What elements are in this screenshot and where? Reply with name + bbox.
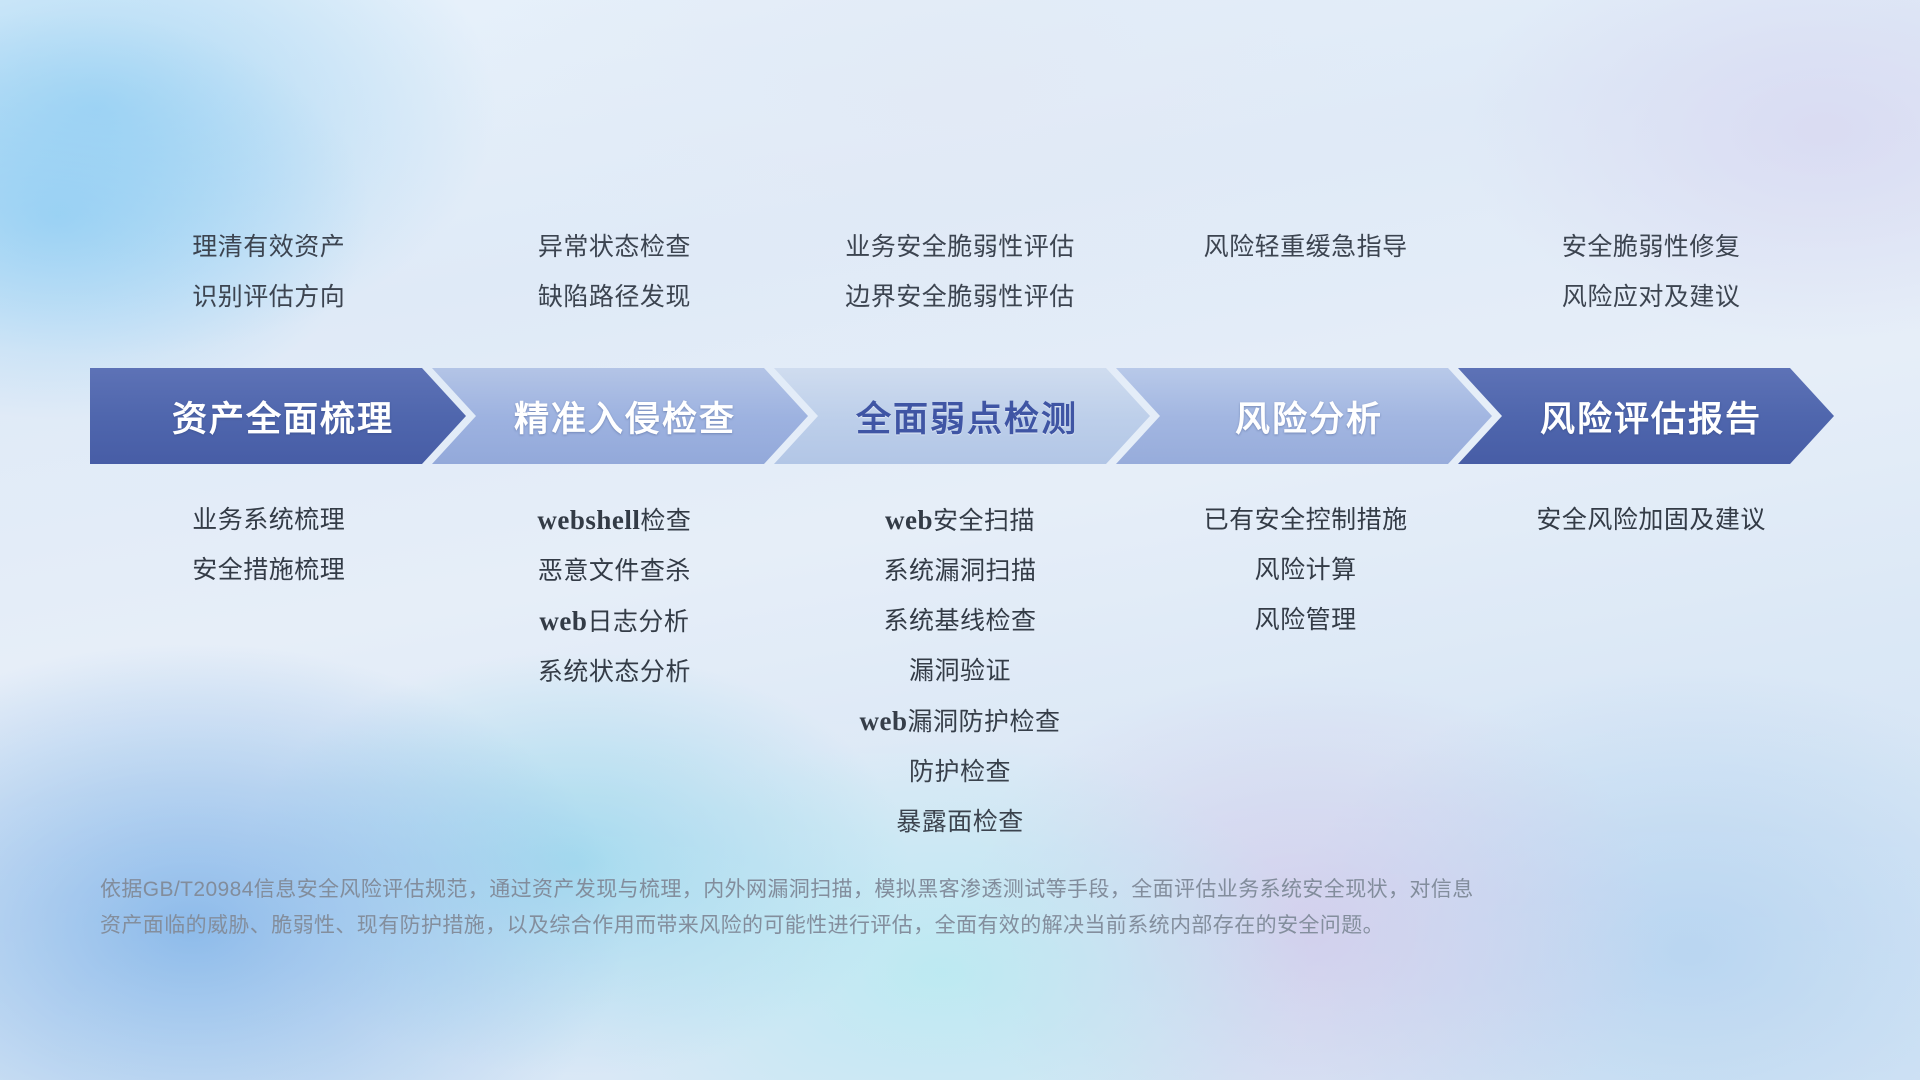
detail-list-item: 系统漏洞扫描: [787, 546, 1133, 596]
detail-item-keyword: webshell: [537, 505, 640, 535]
footer-line-2: 资产面临的威胁、脆弱性、现有防护措施，以及综合作用而带来风险的可能性进行评估，全…: [100, 908, 1840, 944]
chevron-label: 资产全面梳理: [162, 391, 394, 442]
detail-list-item: 恶意文件查杀: [442, 546, 788, 596]
footer-line-1: 依据GB/T20984信息安全风险评估规范，通过资产发现与梳理，内外网漏洞扫描，…: [100, 872, 1840, 908]
detail-list-item: 暴露面检查: [787, 797, 1133, 847]
top-note-line: 异常状态检查: [442, 222, 788, 272]
chevron-label: 全面弱点检测: [846, 391, 1078, 442]
chevron-weakness-detection[interactable]: 全面弱点检测: [774, 368, 1150, 464]
top-notes-asset-inventory: 理清有效资产识别评估方向: [96, 222, 442, 322]
detail-list-item: 防护检查: [787, 747, 1133, 797]
detail-list-item: 漏洞验证: [787, 646, 1133, 696]
bottom-detail-lists: 业务系统梳理安全措施梳理webshell检查恶意文件查杀web日志分析系统状态分…: [96, 495, 1824, 847]
top-note-line: 理清有效资产: [96, 222, 442, 272]
detail-item-keyword: web: [885, 505, 933, 535]
top-note-line: 安全脆弱性修复: [1478, 222, 1824, 272]
detail-list-item: 安全措施梳理: [96, 545, 442, 595]
detail-list-intrusion-check: webshell检查恶意文件查杀web日志分析系统状态分析: [442, 495, 788, 847]
top-notes-row: 理清有效资产识别评估方向异常状态检查缺陷路径发现业务安全脆弱性评估边界安全脆弱性…: [96, 222, 1824, 322]
chevron-asset-inventory[interactable]: 资产全面梳理: [90, 368, 466, 464]
detail-list-item: webshell检查: [442, 495, 788, 546]
detail-list-item: web漏洞防护检查: [787, 696, 1133, 747]
detail-list-item: 风险管理: [1133, 595, 1479, 645]
detail-list-risk-analysis: 已有安全控制措施风险计算风险管理: [1133, 495, 1479, 847]
detail-list-asset-inventory: 业务系统梳理安全措施梳理: [96, 495, 442, 847]
detail-list-item: 系统基线检查: [787, 596, 1133, 646]
chevron-intrusion-check[interactable]: 精准入侵检查: [432, 368, 808, 464]
chevron-label: 精准入侵检查: [504, 391, 736, 442]
top-notes-assessment-report: 安全脆弱性修复风险应对及建议: [1478, 222, 1824, 322]
detail-list-item: 风险计算: [1133, 545, 1479, 595]
detail-list-item: 已有安全控制措施: [1133, 495, 1479, 545]
top-note-line: 边界安全脆弱性评估: [787, 272, 1133, 322]
chevron-label: 风险分析: [1225, 391, 1383, 442]
footer-description: 依据GB/T20984信息安全风险评估规范，通过资产发现与梳理，内外网漏洞扫描，…: [100, 872, 1840, 944]
detail-list-item: 安全风险加固及建议: [1478, 495, 1824, 545]
top-note-line: 业务安全脆弱性评估: [787, 222, 1133, 272]
chevron-assessment-report[interactable]: 风险评估报告: [1458, 368, 1834, 464]
detail-list-item: 系统状态分析: [442, 647, 788, 697]
detail-item-keyword: web: [539, 606, 587, 636]
top-note-line: 风险应对及建议: [1478, 272, 1824, 322]
top-note-line: 风险轻重缓急指导: [1133, 222, 1479, 272]
detail-list-assessment-report: 安全风险加固及建议: [1478, 495, 1824, 847]
top-notes-risk-analysis: 风险轻重缓急指导: [1133, 222, 1479, 322]
top-note-line: 缺陷路径发现: [442, 272, 788, 322]
top-note-line: 识别评估方向: [96, 272, 442, 322]
detail-list-item: 业务系统梳理: [96, 495, 442, 545]
detail-list-weakness-detection: web安全扫描系统漏洞扫描系统基线检查漏洞验证web漏洞防护检查防护检查暴露面检…: [787, 495, 1133, 847]
detail-list-item: web日志分析: [442, 596, 788, 647]
chevron-risk-analysis[interactable]: 风险分析: [1116, 368, 1492, 464]
slide-canvas: 理清有效资产识别评估方向异常状态检查缺陷路径发现业务安全脆弱性评估边界安全脆弱性…: [0, 0, 1920, 1080]
top-notes-weakness-detection: 业务安全脆弱性评估边界安全脆弱性评估: [787, 222, 1133, 322]
top-notes-intrusion-check: 异常状态检查缺陷路径发现: [442, 222, 788, 322]
process-chevron-band: 资产全面梳理精准入侵检查全面弱点检测风险分析风险评估报告: [90, 368, 1834, 464]
detail-list-item: web安全扫描: [787, 495, 1133, 546]
chevron-label: 风险评估报告: [1530, 391, 1762, 442]
detail-item-keyword: web: [859, 706, 907, 736]
